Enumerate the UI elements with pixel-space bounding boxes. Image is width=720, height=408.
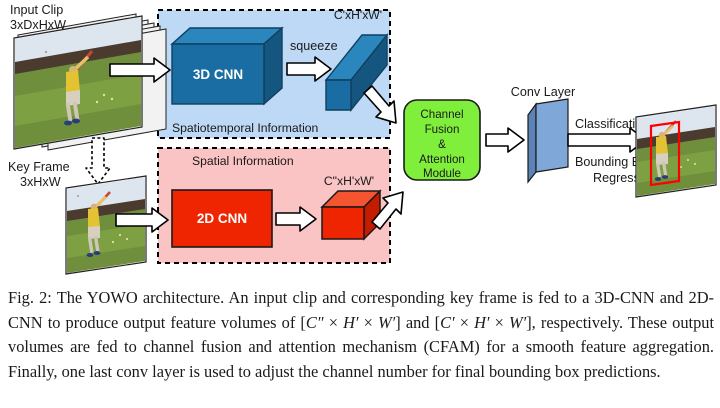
feature-volume-2d: [322, 191, 380, 239]
caption-line1: The YOWO architecture. An input clip and…: [57, 288, 559, 307]
3d-cnn-block: [172, 28, 282, 104]
key-frame-label-line2: 3xHxW: [20, 175, 61, 189]
cfam-label-fusion: Fusion: [425, 123, 460, 136]
volume-top-label: C'xH'xW': [334, 8, 382, 22]
caption-line2-close: ]: [395, 313, 400, 332]
input-clip-label-line1: Input Clip: [10, 3, 63, 17]
caption-sym-hp-1: H′: [343, 313, 358, 332]
caption-sym-hp-2: H′: [474, 313, 489, 332]
spatiotemporal-info-label: Spatiotemporal Information: [172, 121, 318, 135]
caption-times-2: ×: [364, 313, 373, 332]
cfam-label-attention: Attention: [419, 153, 465, 166]
conv-layer-label: Conv Layer: [511, 85, 575, 99]
key-frame-label-line1: Key Frame: [8, 160, 70, 174]
input-clip-label-line2: 3xDxHxW: [10, 18, 66, 32]
caption-times-3: ×: [460, 313, 469, 332]
caption-sym-cp: C′: [440, 313, 455, 332]
output-detection-image: [636, 105, 716, 197]
3d-cnn-label: 3D CNN: [193, 67, 243, 82]
cfam-label-module: Module: [423, 167, 461, 180]
squeeze-label: squeeze: [290, 39, 338, 53]
caption-line3-a: and [: [406, 313, 440, 332]
caption-times-1: ×: [329, 313, 338, 332]
conv-layer-block: [528, 99, 568, 182]
caption-sym-wp-2: W′: [509, 313, 526, 332]
caption-sym-wp-1: W′: [378, 313, 395, 332]
cfam-label-ampersand: &: [438, 138, 446, 151]
arrow-inputclip-to-keyframe: [86, 138, 110, 184]
caption-times-4: ×: [495, 313, 504, 332]
volume-bottom-label: C"xH'xW': [324, 174, 374, 188]
caption-line5: layer is used to adjust the channel numb…: [152, 362, 660, 381]
figure-caption: Fig. 2: The YOWO architecture. An input …: [8, 286, 714, 384]
caption-figure-number: Fig. 2:: [8, 288, 52, 307]
2d-cnn-label: 2D CNN: [197, 211, 247, 226]
arrow-convlayer-to-output: [568, 128, 646, 152]
input-clip-frames: [14, 14, 166, 150]
cfam-label-channel: Channel: [420, 108, 463, 121]
caption-sym-cpp: C″: [306, 313, 324, 332]
spatial-info-label: Spatial Information: [192, 154, 294, 168]
figure-diagram: Input Clip 3xDxHxW 3D CNN squeeze C'xH'x…: [0, 0, 720, 283]
arrow-cfam-to-convlayer: [486, 128, 524, 152]
